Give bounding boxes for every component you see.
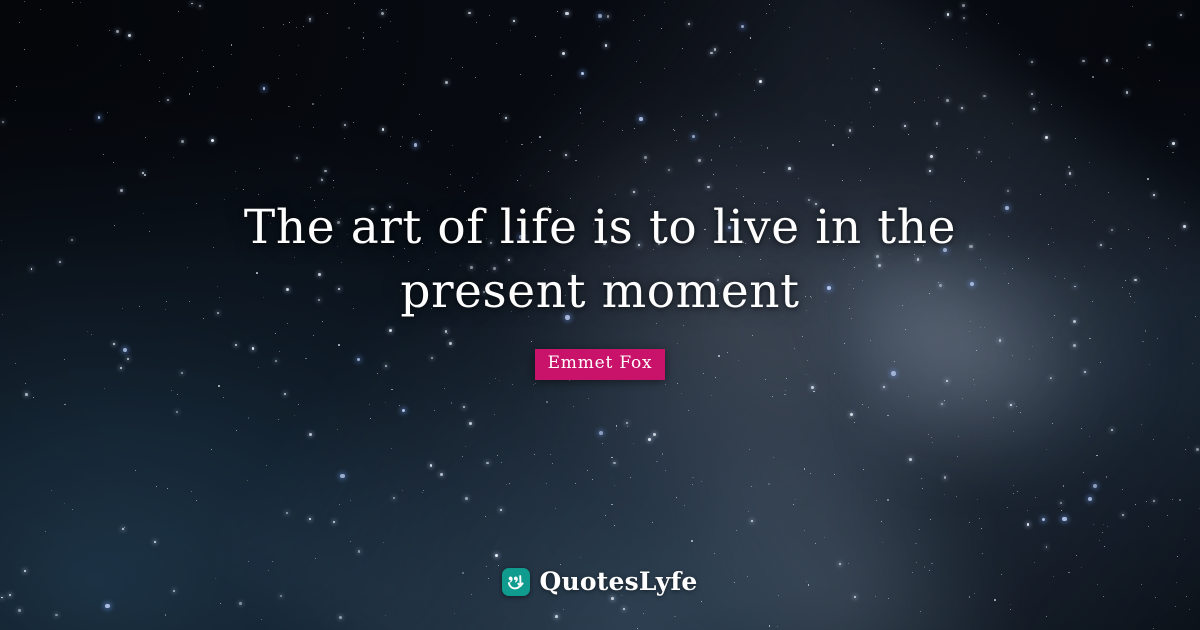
brand-logo[interactable]: QuotesLyfe	[0, 567, 1200, 596]
quote-block: The art of life is to live in the presen…	[0, 196, 1200, 324]
quote-card: The art of life is to live in the presen…	[0, 0, 1200, 630]
quote-text: The art of life is to live in the presen…	[190, 196, 1010, 324]
brand-logo-text: QuotesLyfe	[539, 567, 697, 596]
quoteslyfe-smiley-icon	[502, 568, 530, 596]
author-block: Emmet Fox	[0, 349, 1200, 380]
author-badge: Emmet Fox	[535, 349, 666, 380]
